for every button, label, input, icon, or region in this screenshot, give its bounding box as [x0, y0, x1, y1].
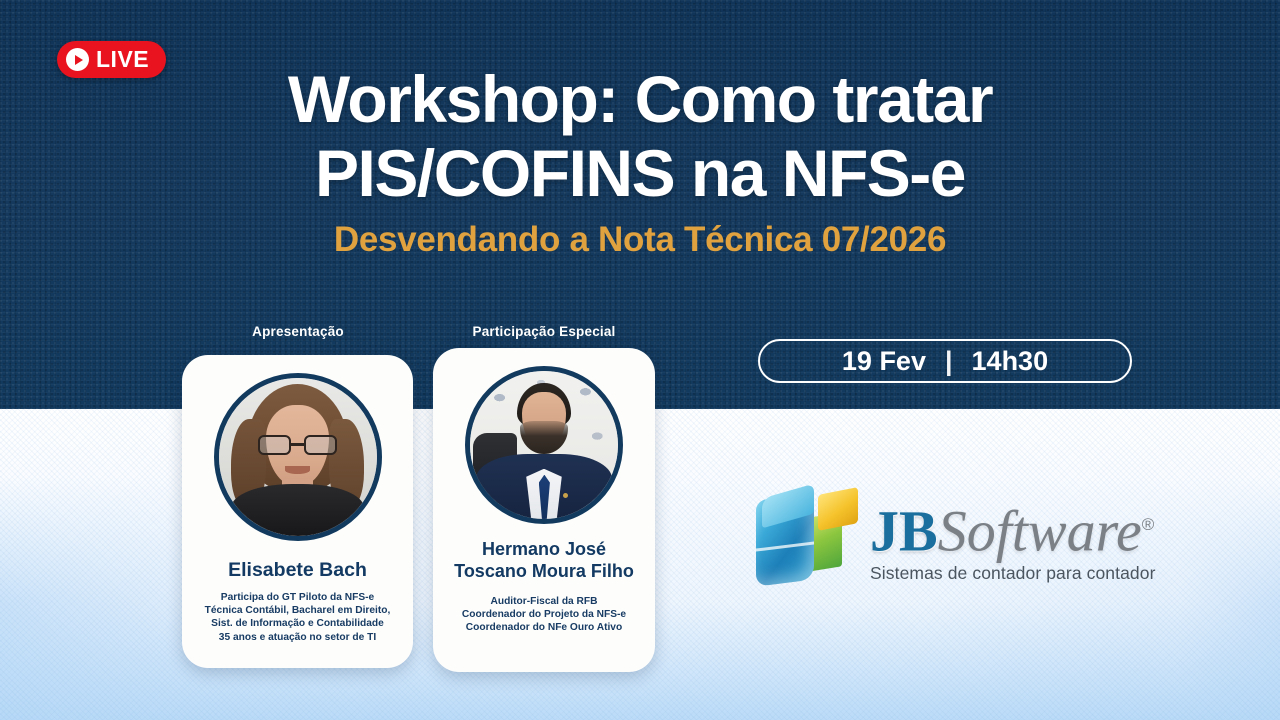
jb-software-logo[interactable]: JBSoftware® Sistemas de contador para co… [752, 483, 1172, 599]
name-line: Toscano Moura Filho [454, 560, 634, 582]
bio-line: 35 anos e atuação no setor de TI [205, 631, 391, 644]
datetime-separator: | [945, 348, 953, 375]
event-date: 19 Fev [842, 348, 926, 375]
bio-line: Técnica Contábil, Bacharel em Direito, [205, 604, 391, 617]
bio-line: Auditor-Fiscal da RFB [462, 595, 626, 608]
name-line: Hermano José [454, 538, 634, 560]
speaker-bio-hermano: Auditor-Fiscal da RFB Coordenador do Pro… [462, 595, 626, 635]
subtitle: Desvendando a Nota Técnica 07/2026 [0, 220, 1280, 260]
live-badge[interactable]: LIVE [57, 41, 166, 78]
live-label: LIVE [96, 48, 149, 71]
logo-software-text: Software [938, 498, 1142, 563]
title-line-2: PIS/COFINS na NFS-e [0, 136, 1280, 210]
title-block: Workshop: Como tratar PIS/COFINS na NFS-… [0, 62, 1280, 260]
speaker-section-label-presentation: Apresentação [183, 324, 413, 339]
speaker-card-elisabete[interactable]: Elisabete Bach Participa do GT Piloto da… [182, 355, 413, 668]
event-time: 14h30 [972, 348, 1049, 375]
event-datetime-badge: 19 Fev | 14h30 [758, 339, 1132, 383]
speaker-portrait-elisabete [214, 373, 382, 541]
speaker-name-elisabete: Elisabete Bach [228, 558, 367, 582]
title-line-1: Workshop: Como tratar [0, 62, 1280, 136]
speaker-name-hermano: Hermano José Toscano Moura Filho [454, 538, 634, 582]
logo-tagline: Sistemas de contador para contador [870, 563, 1156, 583]
logo-jb-text: JB [870, 498, 938, 563]
speaker-portrait-hermano [465, 366, 623, 524]
registered-trademark-icon: ® [1142, 515, 1155, 534]
speaker-section-label-special: Participação Especial [432, 324, 656, 339]
bio-line: Participa do GT Piloto da NFS-e [205, 591, 391, 604]
play-icon [66, 48, 89, 71]
speaker-card-hermano[interactable]: Hermano José Toscano Moura Filho Auditor… [433, 348, 655, 672]
logo-wordmark: JBSoftware® [870, 495, 1156, 561]
speaker-bio-elisabete: Participa do GT Piloto da NFS-e Técnica … [205, 591, 391, 644]
webinar-banner: LIVE Workshop: Como tratar PIS/COFINS na… [0, 0, 1280, 720]
bio-line: Coordenador do NFe Ouro Ativo [462, 621, 626, 634]
bio-line: Coordenador do Projeto da NFS-e [462, 608, 626, 621]
jb-cubes-icon [752, 483, 864, 595]
bio-line: Sist. de Informação e Contabilidade [205, 617, 391, 630]
